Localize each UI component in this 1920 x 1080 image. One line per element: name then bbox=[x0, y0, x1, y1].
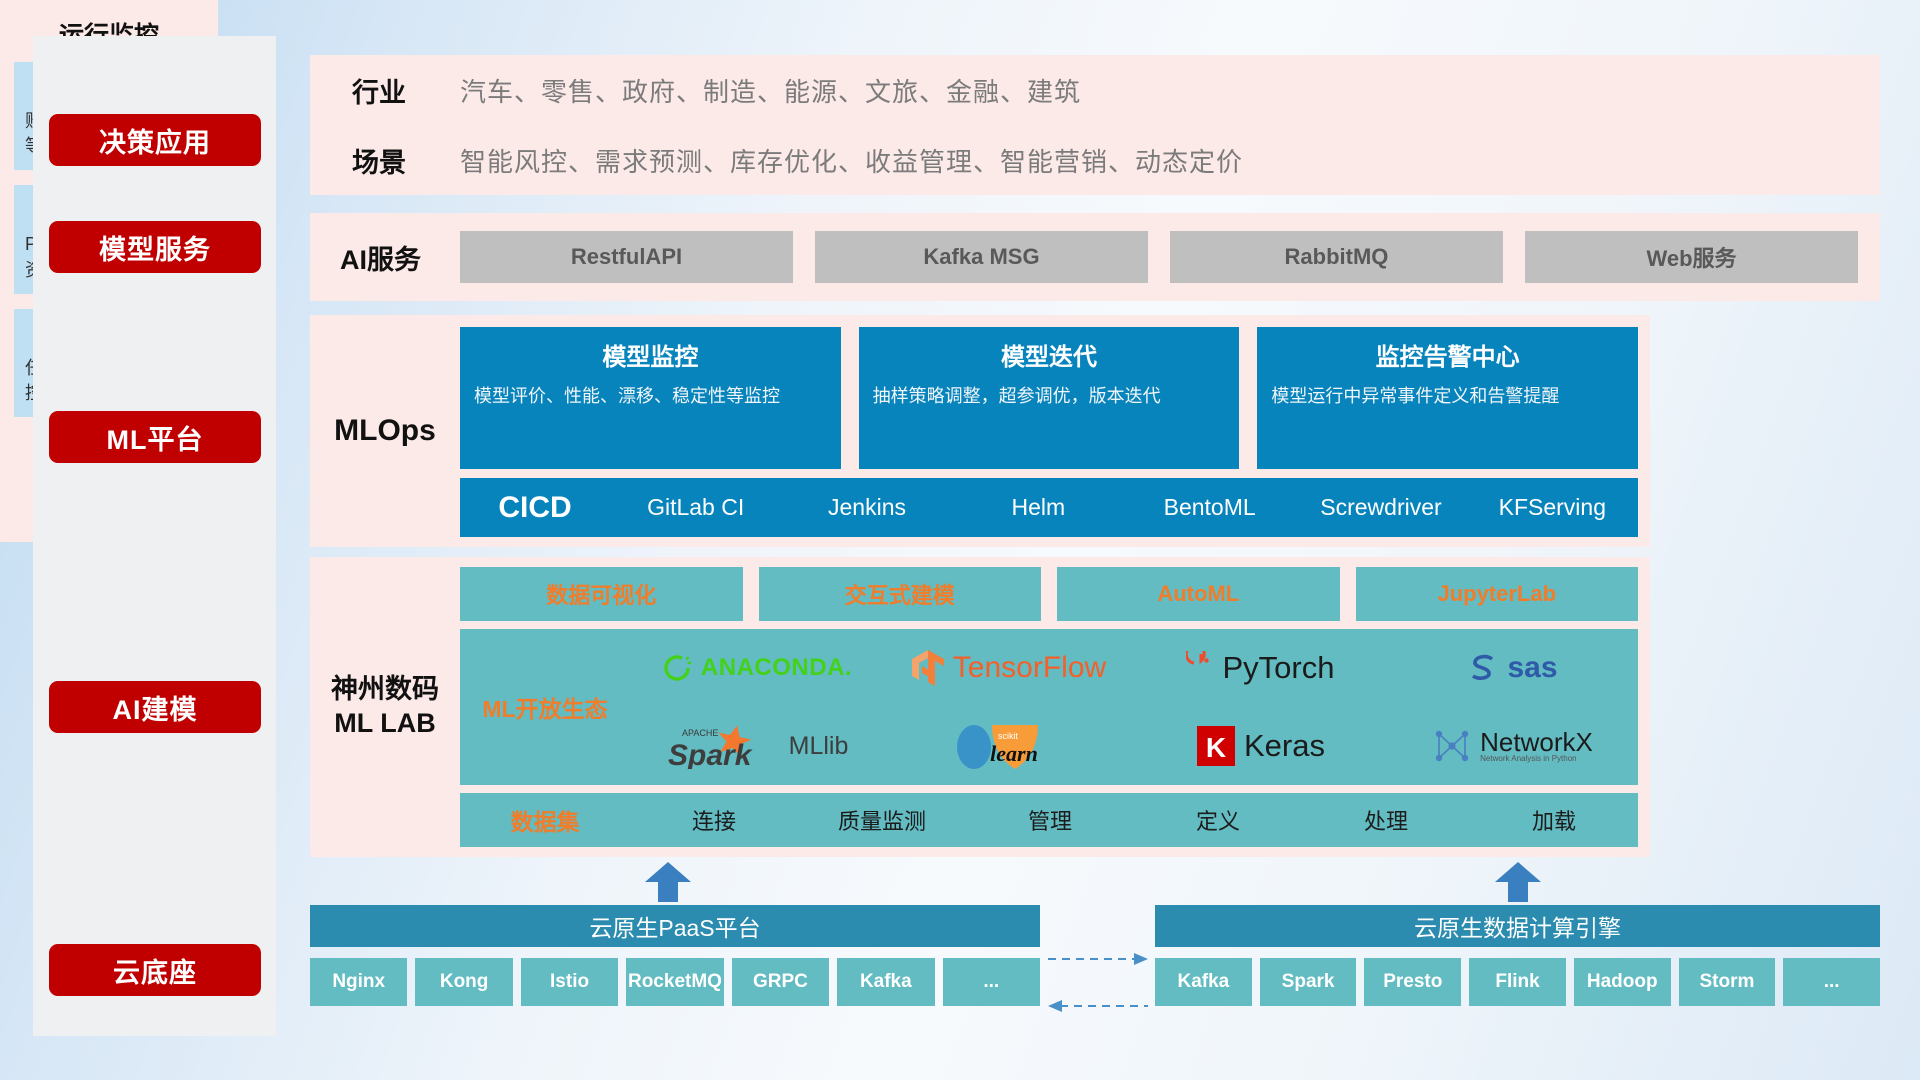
dataset-item-define[interactable]: 定义 bbox=[1134, 804, 1302, 836]
anaconda-logo: ANACONDA. bbox=[630, 651, 882, 685]
card-desc: 抽样策略调整，超参调优，版本迭代 bbox=[873, 383, 1226, 409]
ml-lab-band: 神州数码 ML LAB 数据可视化 交互式建模 AutoML JupyterLa… bbox=[310, 557, 1650, 857]
rail-chip-cloud-base[interactable]: 云底座 bbox=[49, 944, 261, 996]
networkx-tagline: Network Analysis in Python bbox=[1480, 755, 1593, 763]
lab-tab-interactive-modeling[interactable]: 交互式建模 bbox=[759, 567, 1042, 621]
dataset-item-load[interactable]: 加载 bbox=[1470, 804, 1638, 836]
card-title: 模型监控 bbox=[474, 337, 827, 372]
card-title: 监控告警中心 bbox=[1271, 337, 1624, 372]
lab-tab-automl[interactable]: AutoML bbox=[1057, 567, 1340, 621]
keras-mark-icon: K bbox=[1195, 724, 1237, 768]
ml-lab-label-line1: 神州数码 bbox=[331, 673, 439, 707]
ai-service-band: AI服务 RestfulAPI Kafka MSG RabbitMQ Web服务 bbox=[310, 213, 1880, 301]
scenario-label: 场景 bbox=[310, 141, 460, 180]
networkx-graph-icon bbox=[1431, 726, 1473, 766]
dataset-item-quality[interactable]: 质量监测 bbox=[798, 804, 966, 836]
engine-component-list: Kafka Spark Presto Flink Hadoop Storm ..… bbox=[1155, 958, 1880, 1006]
mlops-card-alert-center[interactable]: 监控告警中心 模型运行中异常事件定义和告警提醒 bbox=[1257, 327, 1638, 469]
lab-tab-jupyterlab[interactable]: JupyterLab bbox=[1356, 567, 1639, 621]
mlops-card-model-monitoring[interactable]: 模型监控 模型评价、性能、漂移、稳定性等监控 bbox=[460, 327, 841, 469]
dataset-label: 数据集 bbox=[460, 803, 630, 837]
ml-open-ecosystem-label: ML开放生态 bbox=[460, 629, 630, 785]
industry-row: 行业 汽车、零售、政府、制造、能源、文旅、金融、建筑 bbox=[310, 55, 1880, 125]
mlops-band: MLOps 模型监控 模型评价、性能、漂移、稳定性等监控 模型迭代 抽样策略调整… bbox=[310, 315, 1650, 547]
svc-box-rabbitmq[interactable]: RabbitMQ bbox=[1170, 231, 1503, 283]
dataset-item-manage[interactable]: 管理 bbox=[966, 804, 1134, 836]
keras-wordmark: Keras bbox=[1244, 728, 1325, 764]
paas-pill-nginx[interactable]: Nginx bbox=[310, 958, 407, 1006]
networkx-logo: NetworkX Network Analysis in Python bbox=[1386, 726, 1638, 766]
sas-wordmark: sas bbox=[1507, 651, 1557, 685]
ml-lab-label: 神州数码 ML LAB bbox=[310, 557, 460, 857]
engine-pill-spark[interactable]: Spark bbox=[1260, 958, 1357, 1006]
paas-platform-bar: 云原生PaaS平台 bbox=[310, 905, 1040, 947]
ml-open-ecosystem: ML开放生态 ANACONDA. bbox=[460, 629, 1638, 785]
svg-text:learn: learn bbox=[990, 741, 1038, 766]
paas-pill-kong[interactable]: Kong bbox=[415, 958, 512, 1006]
engine-pill-presto[interactable]: Presto bbox=[1364, 958, 1461, 1006]
cicd-item-kfserving[interactable]: KFServing bbox=[1467, 494, 1638, 520]
tensorflow-mark-icon bbox=[910, 648, 946, 688]
ml-lab-content: 数据可视化 交互式建模 AutoML JupyterLab ML开放生态 ANA… bbox=[460, 557, 1650, 857]
svc-box-web-service[interactable]: Web服务 bbox=[1525, 231, 1858, 283]
scikit-learn-mark-icon: scikit learn bbox=[948, 720, 1068, 772]
lab-tab-data-visualization[interactable]: 数据可视化 bbox=[460, 567, 743, 621]
apache-spark-mark-icon: APACHE Spark bbox=[664, 723, 782, 769]
rail-chip-model-service[interactable]: 模型服务 bbox=[49, 221, 261, 273]
ml-lab-label-line2: ML LAB bbox=[334, 707, 436, 741]
spark-mllib-logo: APACHE Spark MLlib bbox=[630, 723, 882, 769]
rail-chip-decision-app[interactable]: 决策应用 bbox=[49, 114, 261, 166]
paas-component-list: Nginx Kong Istio RocketMQ GRPC Kafka ... bbox=[310, 958, 1040, 1006]
cicd-item-gitlab-ci[interactable]: GitLab CI bbox=[610, 494, 781, 520]
cicd-item-helm[interactable]: Helm bbox=[953, 494, 1124, 520]
paas-pill-istio[interactable]: Istio bbox=[521, 958, 618, 1006]
arrow-up-paas-icon bbox=[645, 862, 691, 902]
anaconda-mark-icon bbox=[660, 651, 694, 685]
keras-logo: K Keras bbox=[1134, 724, 1386, 768]
rail-chip-ai-modeling[interactable]: AI建模 bbox=[49, 681, 261, 733]
paas-pill-more[interactable]: ... bbox=[943, 958, 1040, 1006]
data-engine-bar: 云原生数据计算引擎 bbox=[1155, 905, 1880, 947]
svc-box-restfulapi[interactable]: RestfulAPI bbox=[460, 231, 793, 283]
sas-swirl-icon bbox=[1466, 652, 1500, 684]
ai-service-box-list: RestfulAPI Kafka MSG RabbitMQ Web服务 bbox=[460, 231, 1880, 283]
rail-chip-ml-platform[interactable]: ML平台 bbox=[49, 411, 261, 463]
mlops-content: 模型监控 模型评价、性能、漂移、稳定性等监控 模型迭代 抽样策略调整，超参调优，… bbox=[460, 315, 1650, 547]
dataset-item-process[interactable]: 处理 bbox=[1302, 804, 1470, 836]
svg-text:scikit: scikit bbox=[998, 731, 1018, 741]
svg-text:Spark: Spark bbox=[668, 739, 753, 769]
scenario-row: 场景 智能风控、需求预测、库存优化、收益管理、智能营销、动态定价 bbox=[310, 125, 1880, 195]
decision-app-band: 行业 汽车、零售、政府、制造、能源、文旅、金融、建筑 场景 智能风控、需求预测、… bbox=[310, 55, 1880, 195]
mlops-label: MLOps bbox=[310, 315, 460, 547]
cicd-title: CICD bbox=[460, 491, 610, 525]
arrow-right-dashed-icon bbox=[1048, 948, 1148, 970]
arrow-up-engine-icon bbox=[1495, 862, 1541, 902]
svg-text:K: K bbox=[1206, 732, 1226, 763]
dataset-bar: 数据集 连接 质量监测 管理 定义 处理 加载 bbox=[460, 793, 1638, 847]
cicd-item-jenkins[interactable]: Jenkins bbox=[781, 494, 952, 520]
networkx-wordmark: NetworkX bbox=[1480, 729, 1593, 755]
scikit-learn-logo: scikit learn bbox=[882, 720, 1134, 772]
diagram-canvas: 决策应用 模型服务 ML平台 AI建模 云底座 行业 汽车、零售、政府、制造、能… bbox=[0, 0, 1920, 1080]
anaconda-wordmark: ANACONDA. bbox=[701, 654, 852, 682]
pytorch-flame-icon bbox=[1186, 651, 1216, 685]
pytorch-logo: PyTorch bbox=[1134, 650, 1386, 686]
ecosystem-logo-grid: ANACONDA. TensorFlow bbox=[630, 629, 1638, 785]
mlops-card-list: 模型监控 模型评价、性能、漂移、稳定性等监控 模型迭代 抽样策略调整，超参调优，… bbox=[460, 327, 1638, 469]
pytorch-wordmark: PyTorch bbox=[1223, 650, 1335, 686]
ai-service-label: AI服务 bbox=[310, 238, 460, 277]
engine-pill-flink[interactable]: Flink bbox=[1469, 958, 1566, 1006]
ml-lab-tab-list: 数据可视化 交互式建模 AutoML JupyterLab bbox=[460, 567, 1638, 621]
mllib-wordmark: MLlib bbox=[789, 732, 849, 761]
engine-pill-more[interactable]: ... bbox=[1783, 958, 1880, 1006]
dataset-item-connect[interactable]: 连接 bbox=[630, 804, 798, 836]
card-desc: 模型运行中异常事件定义和告警提醒 bbox=[1271, 383, 1624, 409]
mlops-card-model-iteration[interactable]: 模型迭代 抽样策略调整，超参调优，版本迭代 bbox=[859, 327, 1240, 469]
engine-pill-hadoop[interactable]: Hadoop bbox=[1574, 958, 1671, 1006]
cicd-item-screwdriver[interactable]: Screwdriver bbox=[1295, 494, 1466, 520]
scenario-values: 智能风控、需求预测、库存优化、收益管理、智能营销、动态定价 bbox=[460, 142, 1243, 179]
sas-logo: sas bbox=[1386, 651, 1638, 685]
tensorflow-wordmark: TensorFlow bbox=[953, 651, 1106, 685]
svc-box-kafka-msg[interactable]: Kafka MSG bbox=[815, 231, 1148, 283]
paas-pill-kafka[interactable]: Kafka bbox=[837, 958, 934, 1006]
card-desc: 模型评价、性能、漂移、稳定性等监控 bbox=[474, 383, 827, 409]
paas-pill-rocketmq[interactable]: RocketMQ bbox=[626, 958, 723, 1006]
cicd-bar: CICD GitLab CI Jenkins Helm BentoML Scre… bbox=[460, 478, 1638, 537]
layer-rail: 决策应用 模型服务 ML平台 AI建模 云底座 bbox=[33, 36, 276, 1036]
arrow-left-dashed-icon bbox=[1048, 995, 1148, 1017]
engine-pill-kafka[interactable]: Kafka bbox=[1155, 958, 1252, 1006]
cicd-item-bentoml[interactable]: BentoML bbox=[1124, 494, 1295, 520]
card-title: 模型迭代 bbox=[873, 337, 1226, 372]
industry-label: 行业 bbox=[310, 71, 460, 110]
engine-pill-storm[interactable]: Storm bbox=[1679, 958, 1776, 1006]
svg-text:APACHE: APACHE bbox=[682, 728, 718, 738]
tensorflow-logo: TensorFlow bbox=[882, 648, 1134, 688]
paas-pill-grpc[interactable]: GRPC bbox=[732, 958, 829, 1006]
industry-values: 汽车、零售、政府、制造、能源、文旅、金融、建筑 bbox=[460, 72, 1081, 109]
